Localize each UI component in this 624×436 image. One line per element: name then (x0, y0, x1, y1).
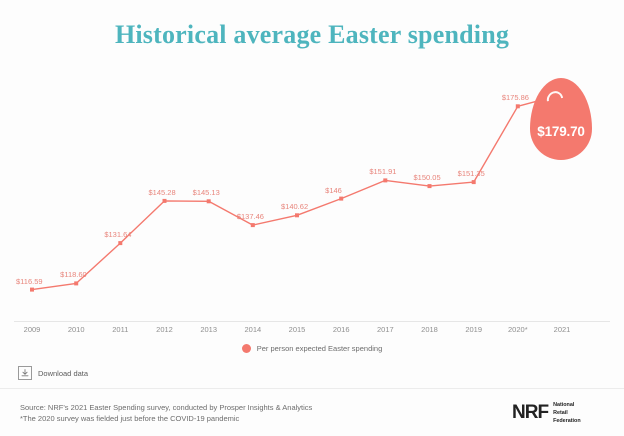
data-point-marker[interactable] (428, 184, 432, 188)
nrf-logo-word-3: Federation (553, 417, 581, 425)
x-axis-tick-2020: 2020* (495, 325, 541, 334)
source-line-2: *The 2020 survey was fielded just before… (20, 414, 312, 425)
x-axis-tick-2013: 2013 (186, 325, 232, 334)
data-point-marker[interactable] (339, 197, 343, 201)
data-point-label: $151.35 (458, 169, 485, 178)
x-axis-tick-2018: 2018 (407, 325, 453, 334)
series-data-points (30, 104, 520, 291)
x-axis-tick-2017: 2017 (362, 325, 408, 334)
page-title: Historical average Easter spending (0, 20, 624, 50)
data-point-label: $150.05 (414, 173, 441, 182)
nrf-logo-word-2: Retail (553, 409, 581, 417)
data-point-label: $131.64 (104, 230, 131, 239)
download-icon (18, 366, 32, 380)
data-point-marker[interactable] (295, 213, 299, 217)
nrf-logo-word-1: National (553, 401, 581, 409)
egg-value-label: $179.70 (530, 124, 592, 139)
data-point-label: $140.62 (281, 202, 308, 211)
legend-label: Per person expected Easter spending (257, 344, 383, 353)
x-axis-tick-2011: 2011 (97, 325, 143, 334)
data-point-marker[interactable] (251, 223, 255, 227)
x-axis-tick-2014: 2014 (230, 325, 276, 334)
x-axis-tick-2021: 2021 (539, 325, 585, 334)
nrf-logo-mark: NRF (512, 402, 548, 424)
source-line-1: Source: NRF's 2021 Easter Spending surve… (20, 403, 312, 414)
data-point-label: $137.46 (237, 212, 264, 221)
x-axis-tick-labels: 2009201020112012201320142015201620172018… (0, 325, 624, 339)
data-point-marker[interactable] (383, 178, 387, 182)
data-point-marker[interactable] (74, 281, 78, 285)
legend-swatch-icon (242, 344, 251, 353)
easter-egg-shape: $179.70 (530, 78, 592, 160)
data-point-marker[interactable] (472, 180, 476, 184)
data-point-marker[interactable] (30, 288, 34, 292)
data-point-marker[interactable] (118, 241, 122, 245)
nrf-logo-wordmark: National Retail Federation (553, 401, 581, 425)
egg-highlight-arc (544, 88, 567, 111)
highlight-egg: $179.70 (530, 78, 596, 162)
data-point-label: $175.86 (502, 93, 529, 102)
data-point-marker[interactable] (516, 104, 520, 108)
x-axis-line (14, 321, 610, 322)
download-data-label: Download data (38, 369, 88, 378)
data-point-marker[interactable] (163, 199, 167, 203)
data-point-label: $151.91 (369, 167, 396, 176)
data-point-marker[interactable] (207, 199, 211, 203)
chart-card: Historical average Easter spending $116.… (0, 0, 624, 436)
data-point-label: $146 (325, 186, 342, 195)
nrf-logo: NRF National Retail Federation (512, 401, 581, 425)
x-axis-tick-2015: 2015 (274, 325, 320, 334)
chart-legend: Per person expected Easter spending (0, 344, 624, 353)
data-point-label: $116.59 (16, 277, 43, 286)
x-axis-tick-2010: 2010 (53, 325, 99, 334)
x-axis-tick-2016: 2016 (318, 325, 364, 334)
x-axis-tick-2012: 2012 (142, 325, 188, 334)
x-axis-tick-2009: 2009 (9, 325, 55, 334)
source-note: Source: NRF's 2021 Easter Spending surve… (20, 403, 312, 425)
x-axis-tick-2019: 2019 (451, 325, 497, 334)
series-line-per-person-spending (32, 94, 562, 289)
data-point-label: $145.28 (149, 188, 176, 197)
data-point-label: $145.13 (193, 188, 220, 197)
data-point-label: $118.60 (60, 270, 87, 279)
download-data-button[interactable]: Download data (18, 366, 88, 380)
footer-divider (0, 388, 624, 389)
